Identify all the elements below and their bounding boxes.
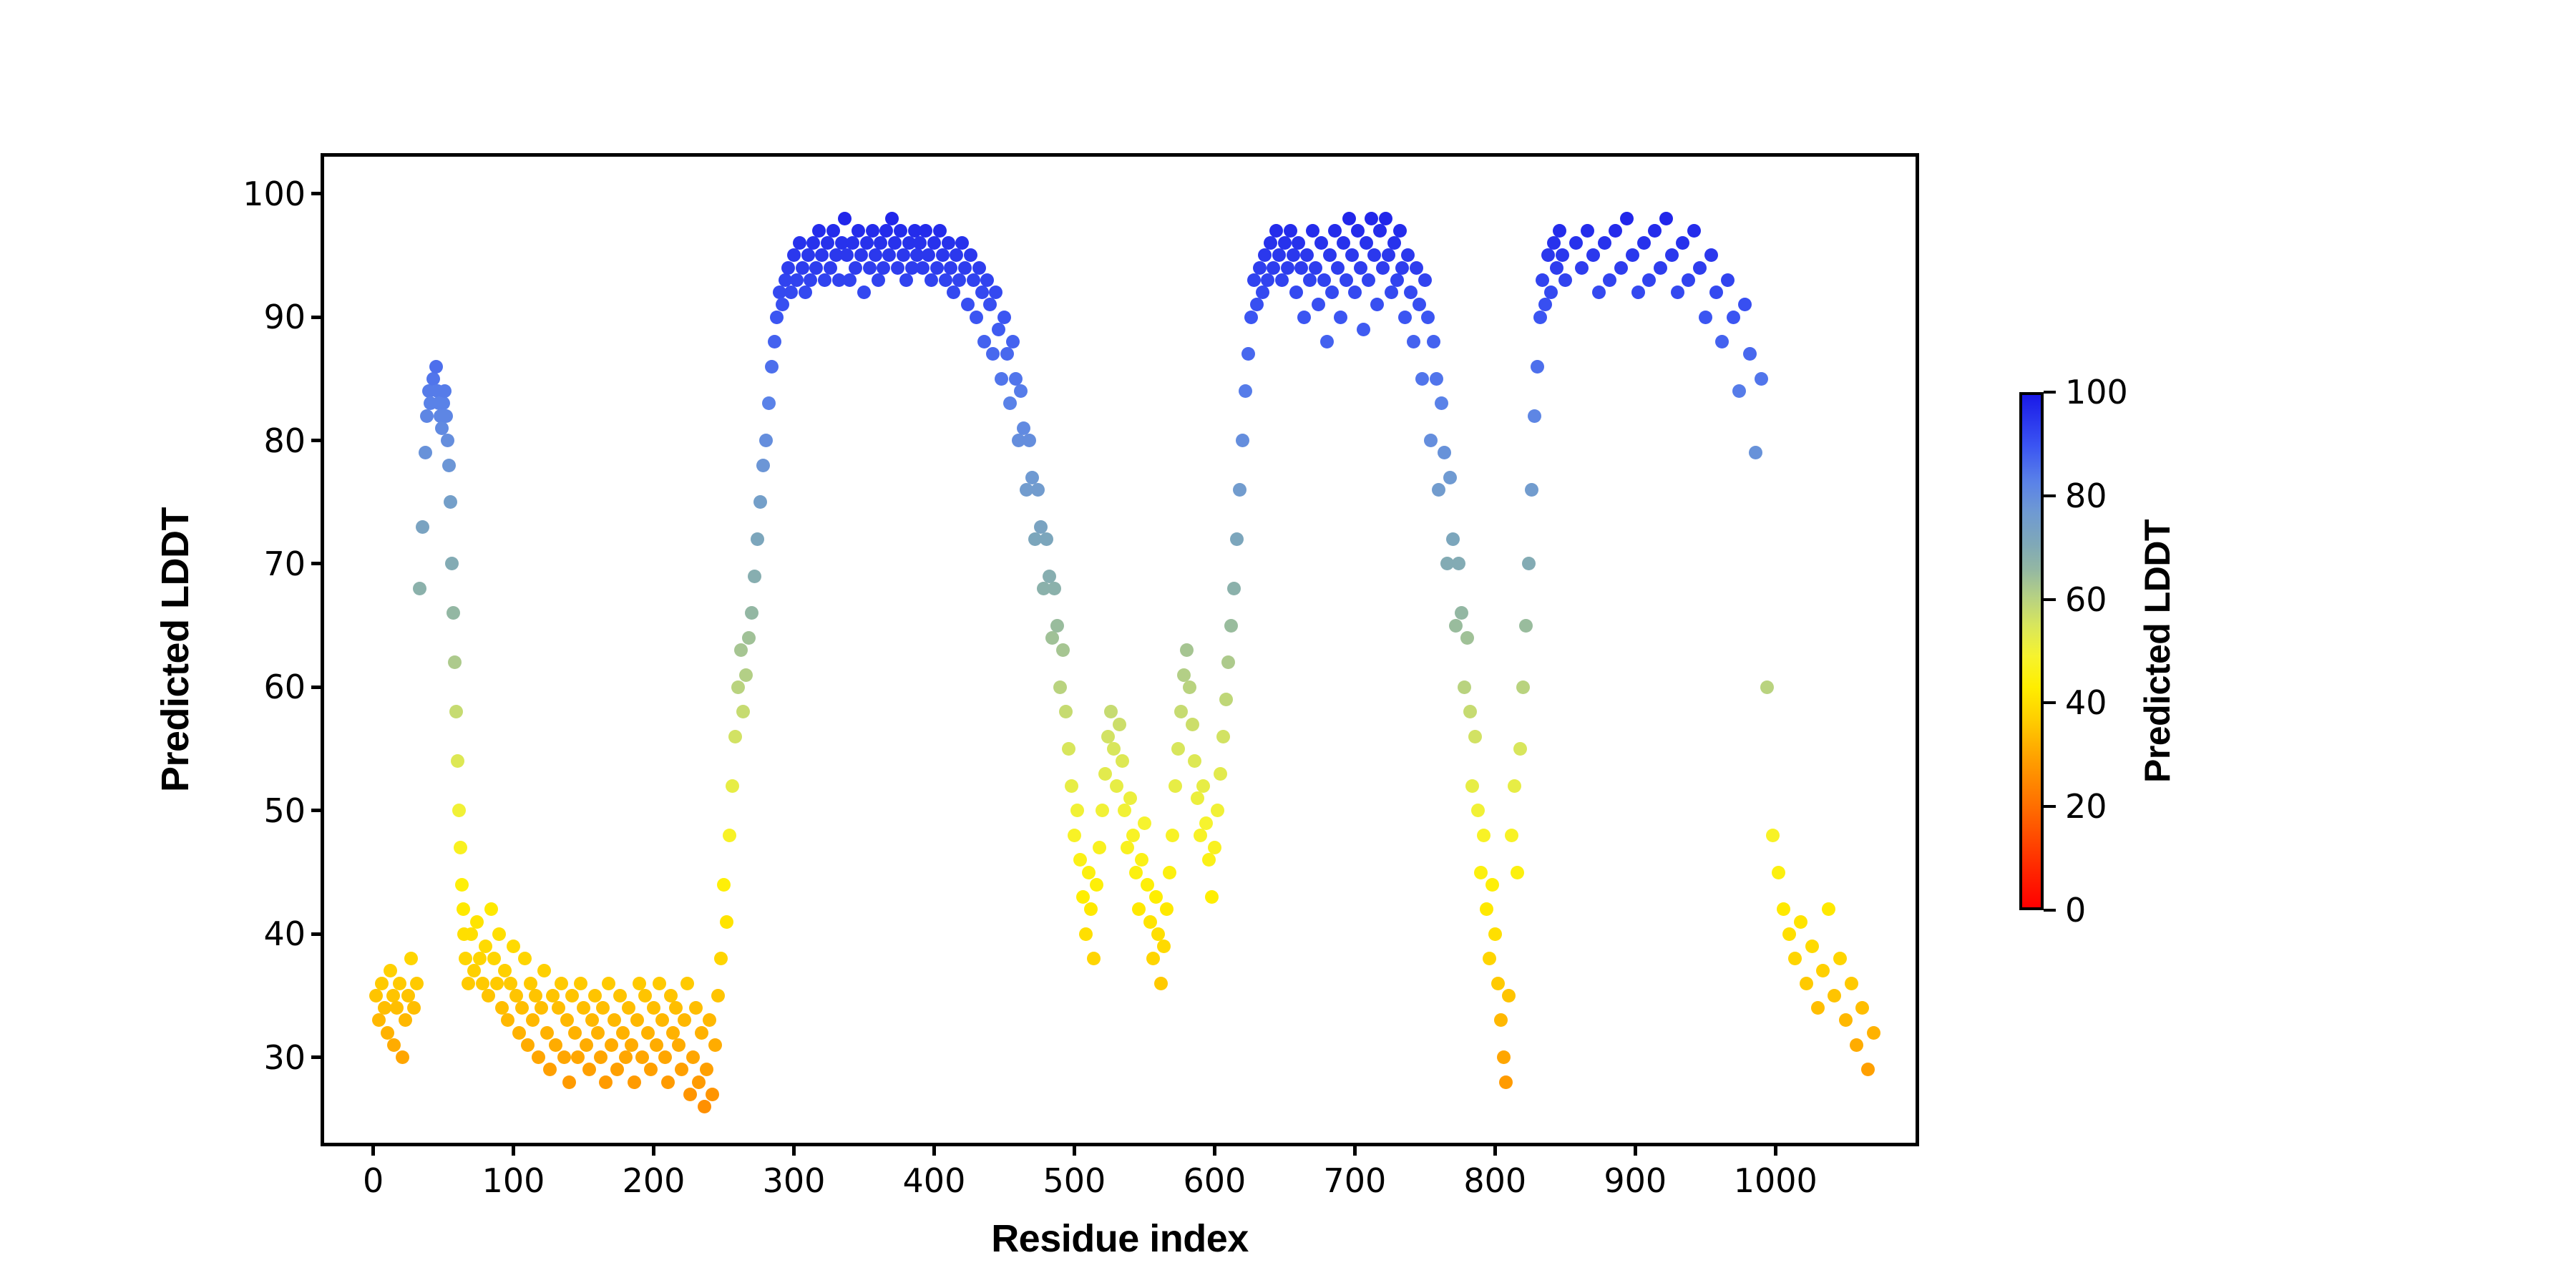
scatter-point	[1084, 902, 1098, 916]
scatter-point	[1320, 335, 1334, 348]
colorbar-tick-mark	[2044, 391, 2056, 394]
scatter-point	[1357, 323, 1370, 336]
scatter-point	[1365, 212, 1378, 225]
scatter-point	[714, 952, 728, 965]
scatter-point	[1816, 964, 1830, 977]
scatter-point	[1354, 261, 1367, 275]
scatter-point	[675, 1063, 688, 1076]
colorbar-tick-label: 0	[2065, 891, 2086, 930]
scatter-point	[1300, 248, 1314, 262]
scatter-point	[577, 1001, 590, 1015]
scatter-point	[1107, 742, 1121, 756]
scatter-point	[552, 1001, 565, 1015]
scatter-point	[1017, 421, 1030, 435]
scatter-point	[1760, 680, 1774, 694]
scatter-point	[913, 236, 927, 250]
scatter-point	[1342, 212, 1356, 225]
scatter-point	[1499, 1075, 1513, 1089]
scatter-point	[1536, 273, 1549, 287]
scatter-point	[669, 1001, 683, 1015]
scatter-point	[1676, 236, 1689, 250]
scatter-point	[1040, 532, 1053, 546]
scatter-point	[1867, 1026, 1880, 1040]
scatter-point	[843, 273, 857, 287]
scatter-point	[686, 1050, 700, 1064]
scatter-point	[1805, 940, 1819, 953]
x-tick-label: 0	[363, 1161, 384, 1200]
scatter-point	[1098, 767, 1112, 781]
scatter-point	[585, 1013, 599, 1027]
scatter-point	[936, 248, 950, 262]
scatter-point	[1211, 804, 1224, 817]
scatter-point	[1331, 261, 1345, 275]
x-tick-label: 800	[1463, 1161, 1526, 1200]
scatter-point	[1003, 396, 1017, 410]
x-tick-label: 500	[1043, 1161, 1106, 1200]
scatter-point	[537, 964, 551, 977]
scatter-point	[1438, 446, 1451, 459]
scatter-point	[1516, 680, 1530, 694]
scatter-point	[509, 989, 523, 1002]
scatter-point	[872, 273, 885, 287]
scatter-point	[728, 730, 742, 743]
scatter-point	[1620, 212, 1634, 225]
scatter-point	[1219, 693, 1233, 706]
scatter-point	[630, 1013, 644, 1027]
scatter-point	[1048, 582, 1061, 595]
scatter-point	[1025, 471, 1039, 484]
scatter-point	[1732, 384, 1746, 398]
scatter-point	[672, 1038, 686, 1052]
scatter-point	[826, 224, 840, 238]
scatter-point	[723, 829, 736, 842]
scatter-point	[983, 298, 997, 311]
scatter-point	[549, 1038, 562, 1052]
scatter-point	[1297, 311, 1311, 324]
scatter-point	[1146, 952, 1160, 965]
scatter-point	[1424, 434, 1438, 447]
scatter-point	[731, 680, 745, 694]
scatter-point	[1132, 902, 1146, 916]
scatter-point	[1525, 483, 1538, 497]
scatter-point	[1382, 248, 1395, 262]
scatter-point	[1169, 779, 1182, 793]
y-tick-label: 40	[263, 914, 306, 953]
scatter-point	[568, 1026, 582, 1040]
x-tick-mark	[792, 1143, 796, 1156]
scatter-point	[1455, 606, 1468, 620]
scatter-point	[1553, 224, 1566, 238]
x-tick-label: 900	[1604, 1161, 1667, 1200]
scatter-point	[1090, 878, 1103, 892]
scatter-point	[436, 396, 450, 410]
scatter-point	[1822, 902, 1835, 916]
scatter-point	[1398, 311, 1412, 324]
scatter-point	[622, 1001, 635, 1015]
scatter-point	[818, 273, 831, 287]
scatter-point	[919, 224, 932, 238]
colorbar-gradient	[2019, 392, 2044, 910]
scatter-point	[655, 1013, 669, 1027]
scatter-point	[1186, 718, 1199, 731]
scatter-point	[1511, 866, 1524, 879]
scatter-point	[846, 236, 859, 250]
scatter-point	[1337, 236, 1350, 250]
scatter-point	[1443, 471, 1457, 484]
scatter-point	[1079, 927, 1093, 941]
scatter-point	[641, 1026, 655, 1040]
scatter-point	[495, 1001, 509, 1015]
scatter-point	[838, 212, 852, 225]
scatter-point	[619, 1050, 633, 1064]
scatter-points-layer	[324, 157, 1916, 1143]
scatter-point	[952, 273, 966, 287]
scatter-point	[1163, 866, 1176, 879]
scatter-point	[653, 977, 666, 990]
colorbar-tick-mark	[2044, 598, 2056, 601]
scatter-point	[1196, 779, 1210, 793]
scatter-point	[543, 1063, 557, 1076]
scatter-point	[1224, 619, 1238, 633]
scatter-point	[1395, 261, 1409, 275]
scatter-point	[916, 261, 930, 275]
scatter-point	[700, 1063, 713, 1076]
scatter-point	[703, 1013, 716, 1027]
scatter-point	[1087, 952, 1101, 965]
scatter-point	[1076, 890, 1090, 904]
scatter-point	[1082, 866, 1096, 879]
scatter-point	[1065, 779, 1078, 793]
scatter-point	[582, 1063, 596, 1076]
scatter-point	[1452, 557, 1465, 570]
scatter-point	[1314, 236, 1328, 250]
scatter-point	[1121, 841, 1134, 854]
scatter-point	[501, 1013, 514, 1027]
scatter-point	[1216, 730, 1230, 743]
scatter-point	[939, 273, 952, 287]
scatter-point	[1494, 1013, 1508, 1027]
scatter-point	[396, 1050, 409, 1064]
scatter-point	[683, 1088, 697, 1101]
scatter-point	[1833, 952, 1847, 965]
scatter-point	[1073, 853, 1087, 867]
scatter-point	[964, 248, 977, 262]
scatter-point	[1006, 335, 1020, 348]
x-tick-mark	[652, 1143, 655, 1156]
scatter-point	[770, 311, 784, 324]
scatter-point	[1460, 631, 1474, 645]
scatter-point	[1110, 779, 1123, 793]
x-tick-label: 200	[623, 1161, 686, 1200]
scatter-point	[1738, 298, 1752, 311]
scatter-point	[1755, 372, 1768, 386]
scatter-point	[369, 989, 383, 1002]
x-tick-label: 1000	[1734, 1161, 1818, 1200]
scatter-point	[1544, 286, 1558, 299]
scatter-point	[487, 952, 501, 965]
colorbar-tick-label: 20	[2065, 787, 2107, 826]
scatter-point	[1180, 643, 1194, 657]
scatter-point	[1586, 248, 1600, 262]
scatter-point	[1043, 570, 1056, 583]
scatter-point	[726, 779, 739, 793]
scatter-point	[1671, 286, 1684, 299]
scatter-point	[995, 372, 1008, 386]
scatter-point	[1000, 347, 1014, 361]
scatter-point	[557, 1050, 571, 1064]
x-tick-mark	[1353, 1143, 1357, 1156]
colorbar-title: Predicted LDDT	[2137, 519, 2178, 783]
scatter-point	[1135, 853, 1148, 867]
scatter-point	[490, 977, 504, 990]
scatter-point	[448, 655, 462, 669]
scatter-point	[1379, 212, 1392, 225]
x-tick-mark	[1774, 1143, 1777, 1156]
scatter-point	[793, 236, 806, 250]
scatter-point	[708, 1038, 722, 1052]
scatter-point	[1009, 372, 1023, 386]
scatter-point	[1497, 1050, 1511, 1064]
scatter-point	[419, 446, 432, 459]
scatter-point	[401, 989, 415, 1002]
scatter-point	[1334, 311, 1347, 324]
scatter-point	[799, 286, 812, 299]
x-tick-label: 700	[1323, 1161, 1386, 1200]
scatter-point	[1093, 841, 1106, 854]
scatter-point	[602, 977, 615, 990]
x-tick-mark	[1213, 1143, 1216, 1156]
scatter-point	[784, 286, 798, 299]
scatter-point	[1458, 680, 1471, 694]
scatter-point	[1465, 779, 1479, 793]
scatter-point	[1126, 829, 1140, 842]
scatter-point	[745, 606, 758, 620]
scatter-point	[1306, 224, 1319, 238]
scatter-point	[664, 989, 678, 1002]
scatter-point	[801, 248, 815, 262]
scatter-point	[459, 952, 472, 965]
y-tick-mark	[311, 316, 324, 319]
scatter-point	[580, 1038, 593, 1052]
scatter-point	[711, 989, 725, 1002]
scatter-point	[899, 273, 913, 287]
scatter-point	[1788, 952, 1802, 965]
scatter-point	[1328, 224, 1342, 238]
scatter-point	[555, 977, 568, 990]
scatter-point	[407, 1001, 421, 1015]
scatter-point	[1513, 742, 1527, 756]
scatter-point	[404, 952, 418, 965]
colorbar-tick-mark	[2044, 494, 2056, 497]
scatter-point	[1483, 952, 1496, 965]
y-tick-mark	[311, 809, 324, 812]
scatter-point	[658, 1050, 672, 1064]
scatter-point	[897, 248, 910, 262]
scatter-point	[1157, 940, 1171, 953]
scatter-point	[384, 964, 397, 977]
scatter-point	[482, 989, 495, 1002]
scatter-point	[706, 1088, 719, 1101]
scatter-point	[748, 570, 761, 583]
scatter-point	[1287, 248, 1300, 262]
scatter-point	[426, 372, 440, 386]
y-tick-label: 50	[263, 791, 306, 830]
scatter-point	[787, 248, 801, 262]
scatter-point	[1123, 791, 1137, 805]
scatter-point	[874, 236, 887, 250]
scatter-point	[616, 1026, 630, 1040]
colorbar-tick-mark	[2044, 909, 2056, 912]
scatter-point	[944, 261, 957, 275]
scatter-point	[375, 977, 389, 990]
scatter-point	[1233, 483, 1246, 497]
scatter-point	[809, 261, 823, 275]
scatter-point	[1794, 915, 1807, 929]
colorbar-tick-label: 60	[2065, 580, 2107, 619]
scatter-point	[863, 261, 877, 275]
scatter-point	[1401, 248, 1415, 262]
scatter-point	[1418, 273, 1432, 287]
scatter-point	[1766, 829, 1780, 842]
scatter-point	[633, 977, 646, 990]
y-tick-label: 30	[263, 1038, 306, 1077]
scatter-point	[1348, 286, 1362, 299]
scatter-point	[1050, 619, 1064, 633]
scatter-point	[613, 989, 627, 1002]
figure-canvas: Predicted LDDT 30405060708090100 0100200…	[0, 0, 2576, 1288]
scatter-point	[535, 1001, 548, 1015]
scatter-point	[689, 1001, 703, 1015]
scatter-point	[1828, 989, 1841, 1002]
scatter-point	[1230, 532, 1244, 546]
scatter-point	[661, 1075, 675, 1089]
scatter-point	[1432, 483, 1445, 497]
scatter-point	[529, 989, 542, 1002]
scatter-point	[473, 952, 487, 965]
scatter-point	[1194, 829, 1207, 842]
colorbar-tick-mark	[2044, 701, 2056, 704]
scatter-point	[1522, 557, 1536, 570]
scatter-point	[765, 360, 779, 374]
scatter-point	[1839, 1013, 1853, 1027]
scatter-point	[1309, 261, 1322, 275]
y-tick-mark	[311, 686, 324, 689]
y-tick-label: 90	[263, 298, 306, 336]
scatter-point	[812, 224, 826, 238]
scatter-point	[610, 1063, 624, 1076]
scatter-point	[933, 224, 947, 238]
scatter-point	[464, 927, 478, 941]
scatter-point	[608, 1013, 621, 1027]
scatter-point	[1183, 680, 1196, 694]
scatter-point	[1772, 866, 1785, 879]
scatter-point	[1269, 224, 1283, 238]
scatter-point	[947, 286, 960, 299]
scatter-point	[441, 434, 454, 447]
scatter-point	[1508, 779, 1521, 793]
scatter-point	[1845, 977, 1858, 990]
scatter-point	[1699, 311, 1712, 324]
scatter-point	[1715, 335, 1729, 348]
scatter-point	[821, 236, 834, 250]
scatter-point	[1614, 261, 1628, 275]
scatter-point	[1471, 804, 1485, 817]
scatter-point	[492, 927, 506, 941]
scatter-point	[1468, 730, 1482, 743]
scatter-point	[958, 261, 972, 275]
scatter-point	[1556, 248, 1569, 262]
scatter-point	[1558, 273, 1572, 287]
scatter-point	[1474, 866, 1488, 879]
scatter-point	[1202, 853, 1216, 867]
scatter-point	[1550, 261, 1563, 275]
scatter-point	[1407, 335, 1420, 348]
scatter-point	[1267, 261, 1280, 275]
scatter-point	[882, 248, 896, 262]
scatter-point	[1693, 261, 1707, 275]
scatter-point	[390, 1001, 404, 1015]
scatter-point	[930, 261, 944, 275]
scatter-point	[885, 212, 899, 225]
scatter-point	[1861, 1063, 1875, 1076]
scatter-point	[1166, 829, 1179, 842]
scatter-point	[444, 495, 457, 509]
y-tick-mark	[311, 192, 324, 195]
x-tick-mark	[371, 1143, 375, 1156]
scatter-point	[442, 459, 456, 472]
scatter-point	[574, 977, 587, 990]
scatter-point	[1376, 261, 1390, 275]
scatter-point	[1687, 224, 1701, 238]
scatter-point	[1704, 248, 1718, 262]
scatter-point	[1138, 816, 1151, 830]
scatter-point	[1264, 236, 1277, 250]
scatter-point	[644, 1063, 658, 1076]
scatter-point	[455, 878, 469, 892]
scatter-point	[992, 323, 1005, 336]
scatter-point	[439, 409, 453, 423]
x-tick-mark	[512, 1143, 515, 1156]
scatter-point	[1116, 754, 1129, 768]
scatter-point	[1855, 1001, 1869, 1015]
scatter-point	[1312, 298, 1325, 311]
scatter-point	[1387, 236, 1401, 250]
scatter-point	[410, 977, 424, 990]
scatter-point	[1581, 224, 1594, 238]
scatter-point	[1261, 273, 1274, 287]
scatter-point	[790, 273, 804, 287]
scatter-point	[742, 631, 756, 645]
scatter-point	[924, 273, 938, 287]
scatter-point	[1533, 311, 1547, 324]
scatter-point	[1654, 261, 1667, 275]
scatter-point	[1659, 212, 1673, 225]
scatter-point	[1488, 927, 1502, 941]
scatter-point	[504, 977, 517, 990]
scatter-point	[416, 520, 429, 534]
scatter-point	[638, 989, 652, 1002]
scatter-point	[1303, 273, 1317, 287]
scatter-point	[961, 298, 975, 311]
scatter-point	[1609, 224, 1622, 238]
scatter-point	[1070, 804, 1084, 817]
scatter-point	[1648, 224, 1662, 238]
scatter-point	[1413, 298, 1426, 311]
scatter-point	[565, 989, 579, 1002]
scatter-point	[806, 236, 820, 250]
scatter-point	[1642, 273, 1656, 287]
scatter-point	[540, 1026, 554, 1040]
